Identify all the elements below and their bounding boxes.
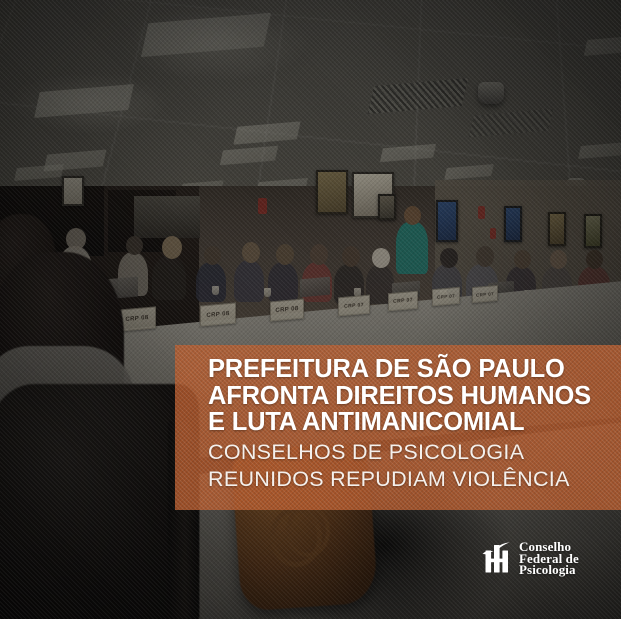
poster-canvas: CRP 08 CRP 08 CRP 08 CRP 07 CRP 07 CRP 0…: [0, 0, 621, 619]
headline: PREFEITURA DE SÃO PAULO AFRONTA DIREITOS…: [208, 356, 611, 436]
wordmark-line: Psicologia: [519, 564, 579, 576]
cfp-wordmark: Conselho Federal de Psicologia: [519, 541, 579, 576]
subheadline-line: REUNIDOS REPUDIAM VIOLÊNCIA: [208, 466, 611, 493]
headline-line: PREFEITURA DE SÃO PAULO: [208, 356, 611, 383]
headline-line: E LUTA ANTIMANICOMIAL: [208, 409, 611, 436]
text-block: PREFEITURA DE SÃO PAULO AFRONTA DIREITOS…: [208, 356, 611, 493]
background-photograph: CRP 08 CRP 08 CRP 08 CRP 07 CRP 07 CRP 0…: [0, 0, 621, 619]
cfp-logo: Conselho Federal de Psicologia: [482, 541, 579, 576]
photo-color-grade: [0, 0, 621, 619]
subheadline-line: CONSELHOS DE PSICOLOGIA: [208, 439, 611, 466]
headline-line: AFRONTA DIREITOS HUMANOS: [208, 383, 611, 410]
subheadline: CONSELHOS DE PSICOLOGIA REUNIDOS REPUDIA…: [208, 439, 611, 493]
cfp-psi-mark-icon: [482, 542, 512, 575]
